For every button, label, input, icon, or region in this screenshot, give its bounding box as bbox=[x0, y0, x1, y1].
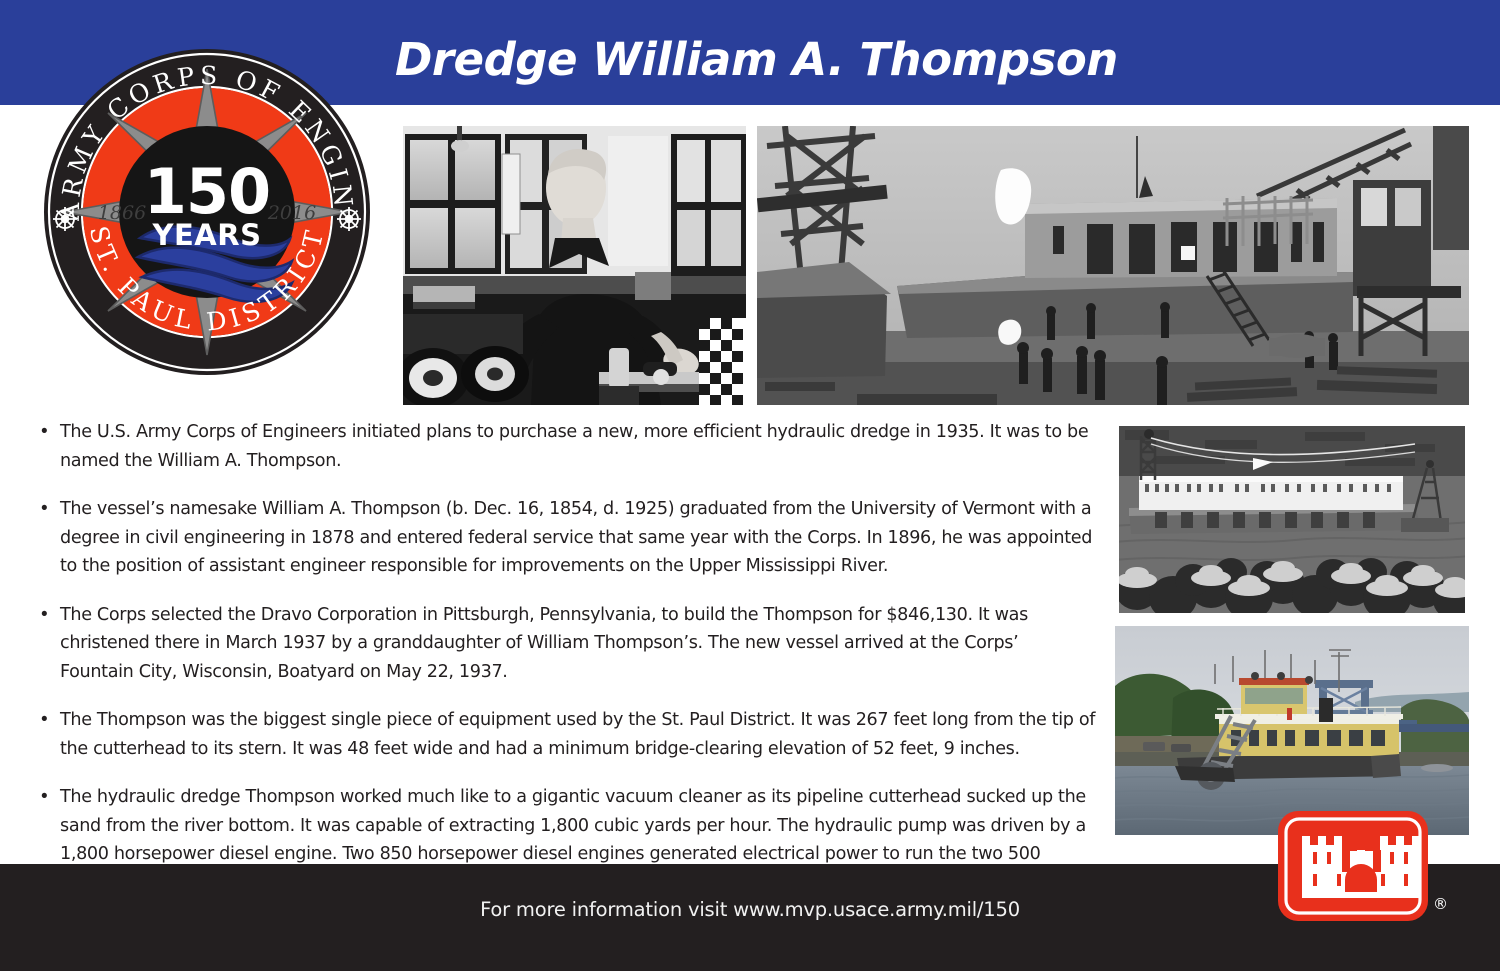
list-item: • The U.S. Army Corps of Engineers initi… bbox=[38, 418, 1096, 475]
ships-wheel-icon-2 bbox=[337, 207, 361, 231]
registered-trademark-mark: ® bbox=[1433, 897, 1448, 912]
page-title: Dredge William A. Thompson bbox=[395, 33, 1118, 86]
bullet-marker: • bbox=[38, 418, 60, 447]
bullet-marker: • bbox=[38, 601, 60, 630]
seal-years-label: YEARS bbox=[152, 218, 262, 252]
list-item: • The vessel’s namesake William A. Thomp… bbox=[38, 495, 1096, 581]
bullet-text: The U.S. Army Corps of Engineers initiat… bbox=[60, 418, 1096, 475]
ships-wheel-icon bbox=[53, 207, 77, 231]
usace-150-years-seal: 150 YEARS 1866 2016 U.S. ARMY CORPS OF E… bbox=[42, 33, 372, 391]
poster-canvas: Dredge William A. Thompson bbox=[0, 0, 1500, 971]
bullet-text: The Thompson was the biggest single piec… bbox=[60, 706, 1096, 763]
bullet-text: The vessel’s namesake William A. Thompso… bbox=[60, 495, 1096, 581]
list-item: • The Corps selected the Dravo Corporati… bbox=[38, 601, 1096, 687]
footer-info-text: For more information visit www.mvp.usace… bbox=[0, 898, 1500, 921]
bullet-text: The Corps selected the Dravo Corporation… bbox=[60, 601, 1096, 687]
list-item: • The Thompson was the biggest single pi… bbox=[38, 706, 1096, 763]
bullet-marker: • bbox=[38, 495, 60, 524]
bullet-marker: • bbox=[38, 706, 60, 735]
photo-modern bbox=[1115, 626, 1469, 835]
seal-year-right: 2016 bbox=[267, 202, 316, 224]
bullet-marker: • bbox=[38, 783, 60, 812]
photo-construction bbox=[757, 126, 1469, 405]
usace-castle-logo bbox=[1277, 810, 1429, 922]
seal-year-left: 1866 bbox=[98, 202, 146, 224]
photo-operator bbox=[403, 126, 746, 405]
photo-launch bbox=[1115, 422, 1469, 617]
bullet-list: • The U.S. Army Corps of Engineers initi… bbox=[38, 418, 1096, 897]
